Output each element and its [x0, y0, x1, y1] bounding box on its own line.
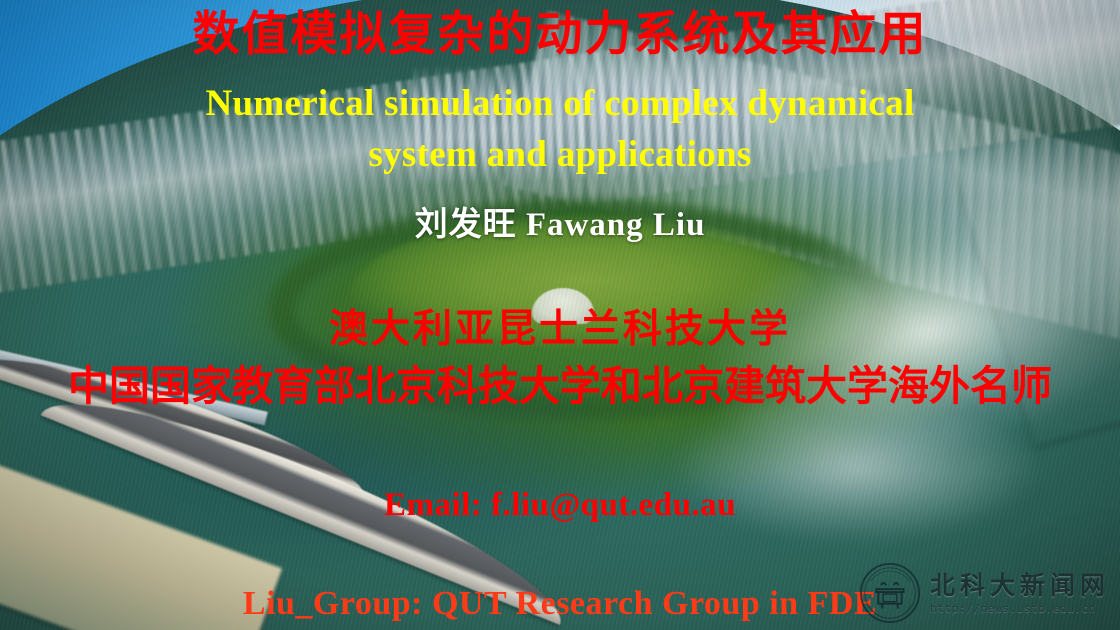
watermark-site-name: 北科大新闻网 — [930, 573, 1110, 598]
watermark-text: 北科大新闻网 http://news.ustb.edu.cn — [930, 573, 1110, 614]
slide-text-overlay: 数值模拟复杂的动力系统及其应用 Numerical simulation of … — [0, 0, 1120, 630]
watermark: 北科大新闻网 http://news.ustb.edu.cn — [859, 562, 1110, 624]
slide-title-english-line1: Numerical simulation of complex dynamica… — [0, 78, 1120, 129]
slide-title-chinese: 数值模拟复杂的动力系统及其应用 — [0, 8, 1120, 62]
ustb-seal-icon — [859, 562, 921, 624]
contact-email: Email: f.liu@qut.edu.au — [0, 487, 1120, 524]
slide-title-english: Numerical simulation of complex dynamica… — [0, 78, 1120, 180]
affiliation-secondary: 中国国家教育部北京科技大学和北京建筑大学海外名师 — [0, 352, 1120, 412]
presenter-name: 刘发旺 Fawang Liu — [0, 197, 1120, 245]
presentation-slide: 数值模拟复杂的动力系统及其应用 Numerical simulation of … — [0, 0, 1120, 630]
watermark-url: http://news.ustb.edu.cn — [930, 603, 1110, 614]
slide-title-english-line2: system and applications — [0, 129, 1120, 180]
affiliation-primary: 澳大利亚昆士兰科技大学 — [0, 298, 1120, 354]
